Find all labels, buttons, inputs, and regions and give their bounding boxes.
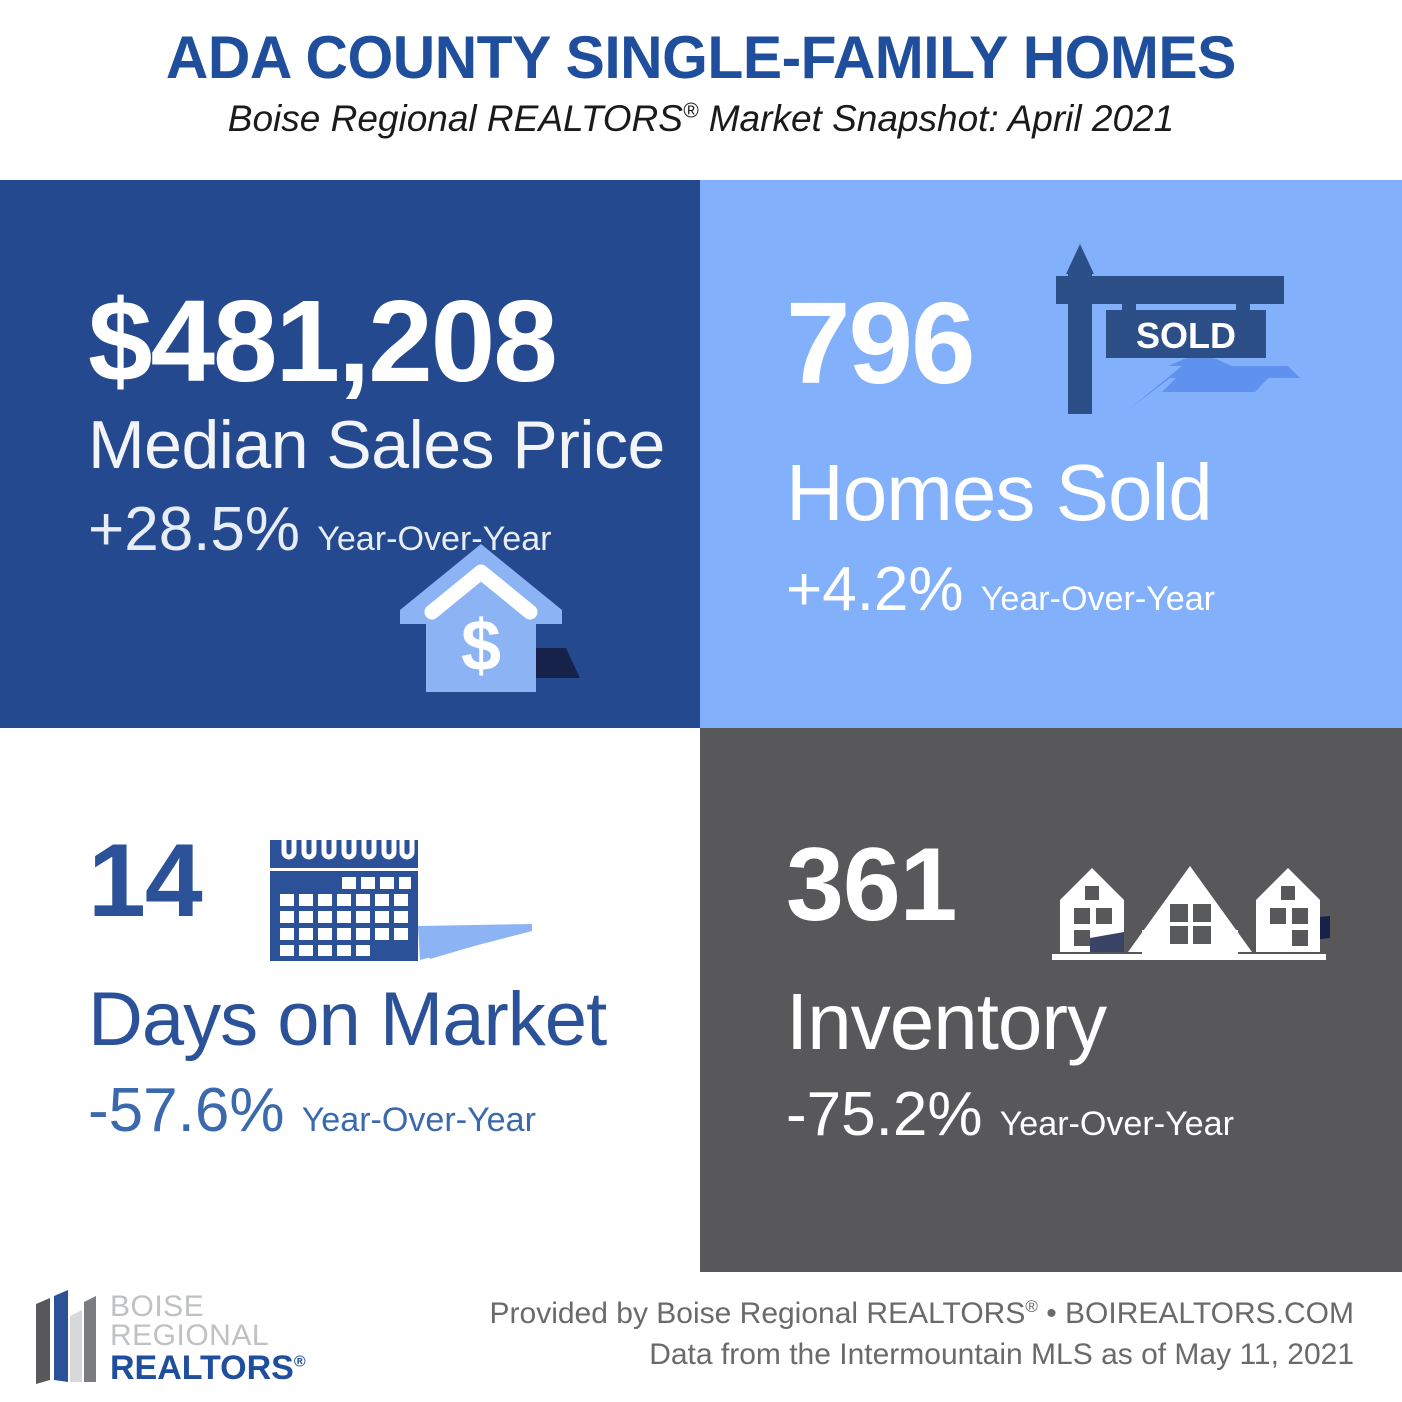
logo-wordmark: BOISE REGIONAL REALTORS® bbox=[110, 1286, 306, 1385]
boise-regional-realtors-logo: BOISE REGIONAL REALTORS® bbox=[32, 1286, 312, 1391]
stat-card-homes-sold: 796 Homes Sold +4.2% Year-Over-Year bbox=[700, 180, 1402, 728]
stat-yoy-suffix: Year-Over-Year bbox=[302, 1101, 536, 1139]
page-subtitle: Boise Regional REALTORS® Market Snapshot… bbox=[228, 99, 1174, 140]
stat-yoy-suffix: Year-Over-Year bbox=[1000, 1105, 1234, 1143]
sold-sign-icon: SOLD bbox=[1050, 242, 1310, 432]
footer-data-source-line: Data from the Intermountain MLS as of Ma… bbox=[490, 1335, 1354, 1376]
registered-trademark-icon: ® bbox=[683, 100, 698, 123]
market-snapshot-infographic: ADA COUNTY SINGLE-FAMILY HOMES Boise Reg… bbox=[0, 0, 1402, 1402]
stat-yoy: -75.2% Year-Over-Year bbox=[786, 1084, 1234, 1146]
registered-trademark-icon: ® bbox=[294, 1353, 306, 1370]
stat-yoy-value: +28.5% bbox=[88, 495, 300, 564]
stat-card-inventory: 361 Inventory -75.2% Year-Over-Year bbox=[700, 728, 1402, 1272]
subtitle-text-after: Market Snapshot: April 2021 bbox=[698, 98, 1174, 139]
sold-sign-text: SOLD bbox=[1136, 315, 1236, 356]
three-houses-icon bbox=[1030, 860, 1350, 980]
house-with-dollar-icon: $ bbox=[366, 532, 596, 702]
footer-line1-before: Provided by Boise Regional REALTORS bbox=[490, 1297, 1026, 1330]
stat-label: Median Sales Price bbox=[88, 411, 665, 479]
registered-trademark-icon: ® bbox=[1025, 1297, 1038, 1316]
page-title: ADA COUNTY SINGLE-FAMILY HOMES bbox=[166, 26, 1236, 89]
stat-yoy: +4.2% Year-Over-Year bbox=[786, 559, 1215, 621]
stat-value: $481,208 bbox=[88, 288, 665, 395]
header: ADA COUNTY SINGLE-FAMILY HOMES Boise Reg… bbox=[0, 0, 1402, 180]
stat-label: Homes Sold bbox=[786, 453, 1215, 533]
logo-realtors-text: REALTORS bbox=[110, 1349, 294, 1387]
svg-text:$: $ bbox=[461, 606, 501, 686]
logo-line-realtors: REALTORS® bbox=[110, 1352, 306, 1385]
subtitle-text-before: Boise Regional REALTORS bbox=[228, 98, 683, 139]
logo-bars-icon bbox=[32, 1286, 104, 1386]
stat-yoy-value: -75.2% bbox=[786, 1080, 982, 1149]
footer: BOISE REGIONAL REALTORS® Provided by Boi… bbox=[0, 1272, 1402, 1402]
stat-label: Inventory bbox=[786, 982, 1234, 1062]
footer-line1-after: • BOIREALTORS.COM bbox=[1038, 1297, 1354, 1330]
calendar-icon bbox=[270, 828, 570, 983]
stat-yoy-value: +4.2% bbox=[786, 555, 964, 624]
stat-yoy: -57.6% Year-Over-Year bbox=[88, 1080, 606, 1142]
stat-yoy-value: -57.6% bbox=[88, 1076, 284, 1145]
logo-line-regional: REGIONAL bbox=[110, 1321, 306, 1350]
stat-text-block: $481,208 Median Sales Price +28.5% Year-… bbox=[88, 288, 665, 561]
logo-line-boise: BOISE bbox=[110, 1292, 306, 1321]
stat-card-days-on-market: 14 Days on Market -57.6% Year-Over-Year bbox=[0, 728, 700, 1272]
stat-label: Days on Market bbox=[88, 982, 606, 1058]
footer-attribution: Provided by Boise Regional REALTORS® • B… bbox=[490, 1294, 1354, 1375]
stat-card-median-sales-price: $481,208 Median Sales Price +28.5% Year-… bbox=[0, 180, 700, 728]
stat-yoy-suffix: Year-Over-Year bbox=[981, 580, 1215, 618]
stats-grid: $481,208 Median Sales Price +28.5% Year-… bbox=[0, 180, 1402, 1272]
footer-provided-by-line: Provided by Boise Regional REALTORS® • B… bbox=[490, 1294, 1354, 1335]
